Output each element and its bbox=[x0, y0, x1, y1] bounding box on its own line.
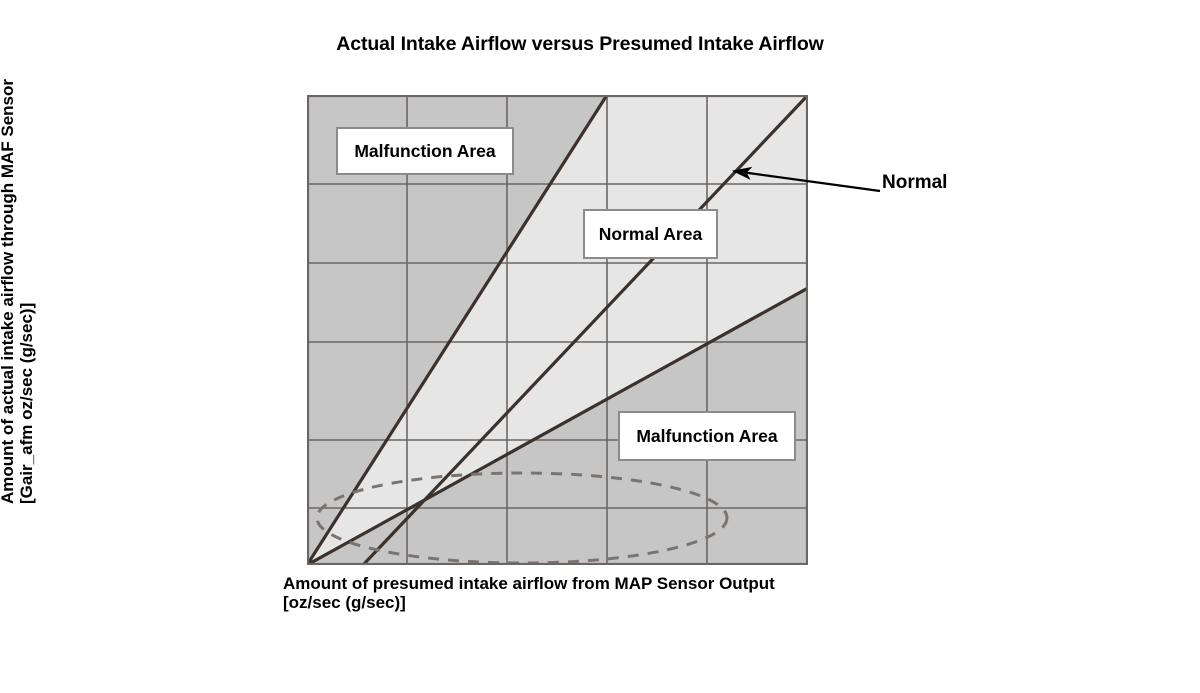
y-axis-label: Amount of actual intake airflow through … bbox=[0, 66, 58, 566]
x-axis-label-line1: Amount of presumed intake airflow from M… bbox=[283, 574, 775, 593]
callout-malfunction-area-top: Malfunction Area bbox=[336, 127, 514, 175]
x-axis-label-line2: [oz/sec (g/sec)] bbox=[283, 593, 775, 612]
x-axis-label: Amount of presumed intake airflow from M… bbox=[283, 574, 775, 612]
y-axis-label-line2: [Gair_afm oz/sec (g/sec)] bbox=[17, 66, 36, 504]
y-axis-label-line1: Amount of actual intake airflow through … bbox=[0, 79, 17, 504]
callout-normal-area: Normal Area bbox=[583, 209, 718, 259]
figure-container: Actual Intake Airflow versus Presumed In… bbox=[0, 0, 1200, 693]
page-title: Actual Intake Airflow versus Presumed In… bbox=[240, 33, 920, 56]
normal-pointer-label: Normal bbox=[882, 172, 947, 194]
callout-malfunction-area-bottom: Malfunction Area bbox=[618, 411, 796, 461]
normal-pointer-arrow-icon bbox=[720, 155, 890, 200]
